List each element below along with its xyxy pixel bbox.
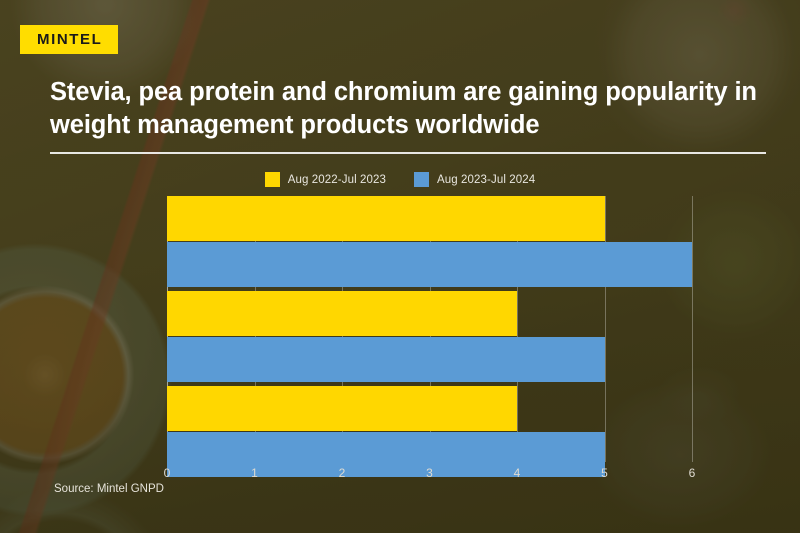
x-axis-tick-label: 3 — [410, 466, 450, 480]
bar-chart: SteviaPea ProteinChromium0123456 — [0, 196, 800, 476]
page-title: Stevia, pea protein and chromium are gai… — [50, 76, 770, 142]
legend-item[interactable]: Aug 2023-Jul 2024 — [414, 172, 535, 187]
bar[interactable] — [167, 386, 517, 431]
x-axis-tick-label: 0 — [147, 466, 187, 480]
bar[interactable] — [167, 432, 605, 477]
legend-item[interactable]: Aug 2022-Jul 2023 — [265, 172, 386, 187]
source-note: Source: Mintel GNPD — [54, 483, 164, 495]
x-axis-tick-label: 6 — [672, 466, 712, 480]
x-axis-tick-label: 1 — [235, 466, 275, 480]
legend-swatch-icon — [414, 172, 429, 187]
legend-label: Aug 2023-Jul 2024 — [437, 174, 535, 186]
bar[interactable] — [167, 291, 517, 336]
legend-swatch-icon — [265, 172, 280, 187]
bar[interactable] — [167, 337, 605, 382]
gridline — [692, 196, 693, 462]
chart-legend: Aug 2022-Jul 2023Aug 2023-Jul 2024 — [0, 172, 800, 187]
bar[interactable] — [167, 242, 692, 287]
plot-area: SteviaPea ProteinChromium0123456 — [167, 196, 692, 462]
title-divider — [50, 152, 766, 154]
x-axis-tick-label: 2 — [322, 466, 362, 480]
bar-group: Pea Protein — [167, 291, 692, 382]
legend-label: Aug 2022-Jul 2023 — [288, 174, 386, 186]
x-axis-tick-label: 4 — [497, 466, 537, 480]
mintel-logo: MINTEL — [20, 25, 118, 54]
bar[interactable] — [167, 196, 605, 241]
bar-group: Stevia — [167, 196, 692, 287]
x-axis-tick-label: 5 — [585, 466, 625, 480]
bar-group: Chromium — [167, 386, 692, 477]
